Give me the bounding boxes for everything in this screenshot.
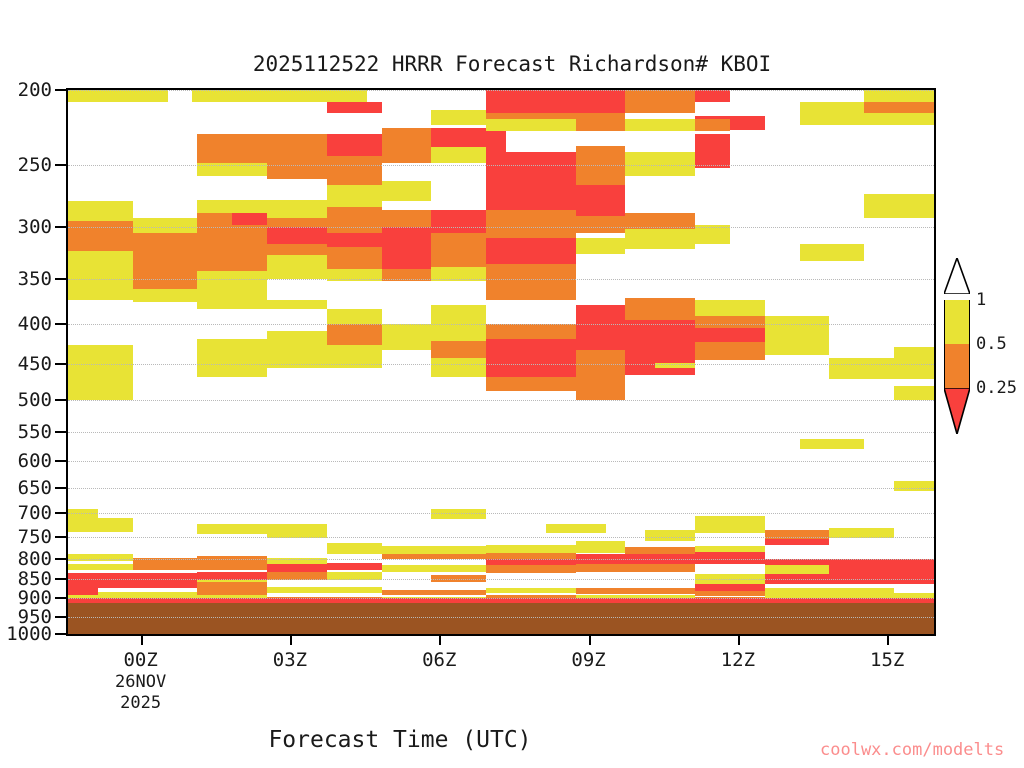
x-tick-label: 15Z [870,649,904,671]
heatmap-cell [486,324,576,339]
heatmap-cell [267,587,381,593]
heatmap-cell [695,102,730,116]
colorbar-tick-label: 0.25 [976,378,1017,398]
y-tick-mark [55,558,66,560]
y-tick-mark [55,164,66,166]
heatmap-cells [68,90,934,634]
heatmap-cell [894,481,934,491]
heatmap-cell [431,341,486,358]
y-tick-label: 400 [18,313,52,335]
heatmap-cell [431,267,486,281]
heatmap-cell [68,281,133,300]
heatmap-cell [68,588,98,595]
heatmap-cell [695,119,730,131]
heatmap-cell [267,156,327,179]
x-tick-label: 09Z [571,649,605,671]
heatmap-cell [800,113,865,125]
heatmap-cell [327,563,382,570]
heatmap-cell [576,216,626,233]
heatmap-cell [576,305,626,350]
x-axis-title: Forecast Time (UTC) [0,727,800,753]
heatmap-cell [267,255,327,279]
y-tick-label: 750 [18,526,52,548]
heatmap-cell [431,110,486,126]
heatmap-cell [68,221,133,251]
heatmap-cell [327,309,382,325]
heatmap-cell [68,345,133,400]
heatmap-cell [486,181,576,209]
heatmap-cell [800,439,865,448]
x-tick-mark [887,636,889,645]
heatmap-cell [695,316,765,329]
heatmap-cell [431,233,486,268]
heatmap-cell [68,573,197,584]
heatmap-cell [486,90,625,102]
heatmap-cell [486,377,576,390]
heatmap-cell [625,229,695,249]
heatmap-cell [382,324,432,350]
x-tick-label: 03Z [273,649,307,671]
heatmap-cell [267,572,327,580]
heatmap-cell [68,90,168,102]
x-tick-mark [141,636,143,645]
heatmap-cell [625,152,695,176]
heatmap-cell [133,233,198,289]
y-tick-mark [55,323,66,325]
watermark: coolwx.com/modelts [820,740,1004,760]
heatmap-cell [197,580,267,582]
heatmap-cell [486,264,576,281]
colorbar-tick-label: 1 [976,290,986,310]
heatmap-cell [382,590,487,595]
heatmap-cell [576,185,626,215]
heatmap-cell [267,227,327,243]
heatmap-cell [829,565,934,574]
heatmap-cell [197,300,267,309]
colorbar-segment-0.25-to-0.5 [944,344,970,388]
heatmap-cell [695,516,765,533]
y-tick-label: 650 [18,477,52,499]
heatmap-cell [486,238,576,264]
y-tick-mark [55,460,66,462]
heatmap-cell [382,147,432,162]
heatmap-cell [327,207,382,232]
x-tick-sublabel: 26NOV 2025 [115,672,166,714]
heatmap-cell [197,339,267,377]
y-tick-mark [55,363,66,365]
heatmap-cell [864,102,934,113]
heatmap-cell [486,281,576,300]
heatmap-cell [576,588,695,594]
heatmap-cell [625,213,695,229]
heatmap-cell [625,102,695,113]
heatmap-cell [765,316,830,355]
heatmap-cell [576,238,626,254]
heatmap-cell [382,210,432,227]
heatmap-cell [267,524,327,533]
heatmap-cell [197,562,267,570]
heatmap-cell [800,102,865,113]
colorbar-tick-label: 0.5 [976,334,1007,354]
heatmap-cell [695,90,730,102]
heatmap-cell [327,572,382,580]
heatmap-cell [232,213,267,225]
y-tick-mark [55,616,66,618]
heatmap-cell [197,163,267,176]
heatmap-cell [934,90,936,102]
y-tick-label: 550 [18,421,52,443]
colorbar-segment-0.5-to-1 [944,300,970,344]
heatmap-cell [695,225,730,244]
heatmap-cell [327,324,382,344]
colorbar-legend: 10.50.25 [944,300,970,434]
y-tick-mark [55,399,66,401]
heatmap-cell [382,128,432,147]
heatmap-cell [576,146,626,185]
y-tick-label: 800 [18,548,52,570]
heatmap-cell [133,218,198,233]
heatmap-cell [197,582,267,590]
heatmap-cell [695,328,765,342]
heatmap-cell [197,134,267,162]
colorbar-top-arrow [944,258,970,294]
x-tick-label: 12Z [721,649,755,671]
heatmap-cell [829,358,894,379]
heatmap-cell [327,543,382,554]
y-tick-label: 1000 [6,623,52,645]
heatmap-cell [625,119,695,131]
heatmap-cell [625,547,695,555]
heatmap-cell [800,244,865,262]
heatmap-cell [327,345,382,368]
y-axis: 2002503003504004505005506006507007508008… [0,88,66,636]
heatmap-cell [486,152,576,182]
y-tick-mark [55,487,66,489]
heatmap-cell [894,386,934,400]
terrain-fill [68,603,934,634]
heatmap-cell [382,565,487,572]
y-tick-label: 350 [18,268,52,290]
y-tick-mark [55,278,66,280]
heatmap-cell [655,363,695,368]
heatmap-cell [546,524,606,533]
heatmap-cell [625,320,695,339]
heatmap-cell [894,347,934,379]
heatmap-cell [576,119,626,131]
heatmap-cell [267,134,327,156]
y-tick-label: 200 [18,79,52,101]
heatmap-cell [192,90,366,102]
heatmap-cell [625,90,695,102]
heatmap-cell [327,269,382,281]
y-tick-label: 300 [18,216,52,238]
heatmap-cell [829,528,894,538]
heatmap-cell [382,181,432,201]
y-tick-mark [55,633,66,635]
heatmap-cell [68,564,133,571]
heatmap-cell [695,584,765,591]
heatmap-cell [864,194,934,218]
heatmap-cell [695,300,765,316]
heatmap-cell [576,541,626,553]
x-tick-label: 06Z [422,649,456,671]
heatmap-cell [576,554,695,563]
heatmap-cell [695,574,765,584]
heatmap-cell [267,564,327,572]
heatmap-cell [695,552,765,563]
heatmap-cell [695,342,765,360]
heatmap-cell [382,269,432,281]
x-tick-mark [738,636,740,645]
heatmap-plot-area [66,88,936,636]
heatmap-cell [486,545,576,554]
heatmap-cell [486,102,625,113]
heatmap-cell [68,518,133,532]
x-tick-mark [589,636,591,645]
heatmap-cell [197,271,267,299]
heatmap-cell [431,210,486,233]
heatmap-cell [431,128,486,147]
heatmap-cell [486,210,576,238]
page-title: 2025112522 HRRR Forecast Richardson# KBO… [0,52,1024,76]
x-tick-mark [290,636,292,645]
y-tick-mark [55,512,66,514]
y-tick-label: 250 [18,154,52,176]
y-tick-label: 600 [18,450,52,472]
heatmap-cell [267,218,327,227]
heatmap-cell [68,509,98,519]
heatmap-cell [267,200,327,218]
heatmap-cell [695,134,730,168]
heatmap-cell [765,539,830,545]
heatmap-cell [765,574,934,584]
heatmap-cell [68,554,133,561]
heatmap-cell [486,131,506,151]
x-tick-mark [439,636,441,645]
heatmap-cell [431,147,486,162]
heatmap-cell [486,565,576,573]
heatmap-cell [431,305,486,341]
y-tick-mark [55,89,66,91]
heatmap-cell [431,358,486,377]
heatmap-cell [625,339,695,375]
heatmap-cell [864,113,934,125]
y-tick-label: 700 [18,502,52,524]
heatmap-cell [267,244,327,256]
heatmap-cell [197,524,267,535]
heatmap-cell [382,546,487,555]
y-tick-label: 500 [18,389,52,411]
heatmap-cell [576,564,695,572]
heatmap-cell [327,134,382,156]
heatmap-cell [197,200,267,213]
y-tick-mark [55,431,66,433]
heatmap-cell [486,588,576,593]
heatmap-cell [327,185,382,207]
heatmap-cell [267,300,327,309]
heatmap-cell [486,339,576,377]
heatmap-cell [133,564,198,571]
heatmap-cell [382,227,432,269]
heatmap-cell [267,331,327,368]
heatmap-cell [864,90,934,102]
x-tick-label: 00Z [123,649,157,671]
y-tick-label: 450 [18,353,52,375]
y-tick-mark [55,578,66,580]
heatmap-cell [431,509,486,520]
heatmap-cell [68,201,133,221]
heatmap-cell [327,233,382,247]
heatmap-cell [327,156,382,185]
heatmap-cell [68,251,133,281]
colorbar-bottom-arrow [944,388,970,434]
heatmap-cell [765,565,830,574]
heatmap-cell [645,530,695,541]
y-tick-mark [55,536,66,538]
heatmap-cell [576,350,626,399]
heatmap-cell [267,533,327,538]
heatmap-cell [486,119,576,131]
heatmap-cell [431,575,486,582]
heatmap-cell [625,298,695,320]
y-tick-mark [55,226,66,228]
heatmap-cell [327,102,382,113]
y-tick-mark [55,597,66,599]
heatmap-cell [382,554,487,558]
heatmap-cell [327,247,382,270]
heatmap-cell [133,289,198,303]
